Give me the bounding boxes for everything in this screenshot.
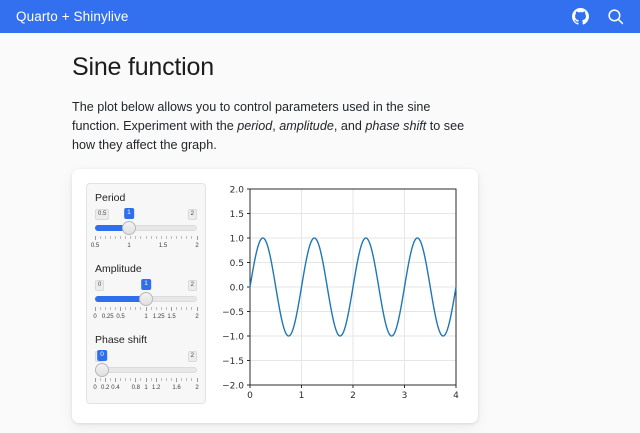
slider-tick	[191, 307, 192, 310]
slider-tick	[125, 307, 126, 310]
slider-tick	[161, 307, 162, 310]
slider-tick-label: 2	[195, 384, 198, 392]
y-axis-tick-label: −0.5	[222, 308, 244, 318]
slider-tick	[171, 236, 172, 239]
slider-tick	[95, 378, 96, 382]
y-axis-tick-label: 2.0	[230, 185, 245, 195]
slider-tick	[146, 307, 147, 311]
slider-value-badge-period: 1	[124, 208, 134, 219]
slider-tick	[140, 307, 141, 310]
slider-track-phase-shift[interactable]	[95, 363, 197, 377]
slider-label-phase-shift: Phase shift	[95, 334, 197, 346]
slider-label-amplitude: Amplitude	[95, 263, 197, 275]
x-axis-tick-label: 0	[247, 391, 253, 401]
slider-tick-label: 1	[144, 313, 147, 321]
y-axis-tick-label: −1.5	[222, 357, 244, 367]
slider-tick-label: 0	[93, 384, 96, 392]
slider-tick	[125, 236, 126, 239]
slider-tick-label: 1.25	[153, 313, 165, 321]
slider-track-bg-phase-shift[interactable]	[95, 367, 197, 373]
slider-tick	[186, 236, 187, 239]
slider-tick	[120, 307, 121, 311]
slider-label-period: Period	[95, 192, 197, 204]
emphasis-amplitude: amplitude	[279, 119, 334, 133]
slider-tick-label: 1	[144, 384, 147, 392]
slider-tick	[140, 378, 141, 381]
slider-tick	[135, 378, 136, 382]
slider-tick	[115, 236, 116, 239]
slider-tick-label: 1.5	[159, 242, 167, 250]
y-axis-tick-label: 1.0	[230, 234, 245, 244]
slider-tick	[191, 378, 192, 381]
github-icon[interactable]	[572, 8, 589, 25]
slider-tick	[176, 236, 177, 239]
slider-handle-period[interactable]	[122, 221, 136, 235]
slider-tick	[115, 378, 116, 382]
emphasis-phase-shift: phase shift	[365, 119, 426, 133]
emphasis-period: period	[237, 119, 272, 133]
slider-tick	[105, 236, 106, 239]
slider-group-phase-shift: Phase shift00200.20.40.811.21.62	[95, 334, 197, 393]
slider-tick	[166, 236, 167, 239]
slider-group-period: Period0.5120.511.52	[95, 192, 197, 251]
slider-group-amplitude: Amplitude01200.250.511.251.52	[95, 263, 197, 322]
slider-tick	[120, 236, 121, 239]
slider-max-label-amplitude: 2	[188, 280, 197, 291]
sine-plot-svg: −2.0−1.5−1.0−0.50.00.51.01.52.001234	[214, 181, 462, 409]
slider-max-label-period: 2	[188, 209, 197, 220]
description-sep-2: , and	[334, 119, 366, 133]
search-icon[interactable]	[607, 8, 624, 25]
slider-tick	[151, 307, 152, 310]
slider-tick	[197, 378, 198, 382]
slider-tick	[151, 378, 152, 381]
y-axis-tick-label: 1.5	[230, 210, 244, 220]
slider-tick	[110, 378, 111, 381]
y-axis-tick-label: −1.0	[222, 332, 244, 342]
slider-handle-phase-shift[interactable]	[95, 363, 109, 377]
slider-tick-label: 2	[195, 313, 198, 321]
slider-tick	[130, 236, 131, 239]
slider-tick-labels-amplitude: 00.250.511.251.52	[95, 313, 197, 322]
slider-tick	[176, 378, 177, 382]
slider-value-badge-phase-shift: 0	[97, 350, 107, 361]
slider-sidebar: Period0.5120.511.52Amplitude01200.250.51…	[86, 183, 206, 404]
page-title: Sine function	[72, 53, 542, 82]
page-description: The plot below allows you to control par…	[72, 98, 476, 155]
slider-min-label-amplitude: 0	[95, 280, 104, 291]
slider-tick	[151, 236, 152, 239]
slider-tick	[100, 378, 101, 381]
slider-tick	[130, 307, 131, 310]
slider-tick	[110, 307, 111, 310]
slider-tick	[171, 378, 172, 381]
x-axis-tick-label: 1	[299, 391, 305, 401]
slider-tick	[125, 378, 126, 381]
slider-tick	[115, 307, 116, 310]
slider-tick	[156, 236, 157, 239]
page-body: Sine function The plot below allows you …	[0, 33, 640, 423]
shiny-app-card: Period0.5120.511.52Amplitude01200.250.51…	[72, 169, 478, 423]
slider-tick	[156, 307, 157, 310]
slider-tick-label: 0.4	[111, 384, 119, 392]
slider-tick	[135, 307, 136, 310]
slider-min-label-period: 0.5	[95, 209, 109, 220]
y-axis-tick-label: 0.0	[230, 283, 245, 293]
x-axis-tick-label: 3	[402, 391, 408, 401]
navbar-actions	[572, 8, 624, 25]
sine-plot: −2.0−1.5−1.0−0.50.00.51.01.52.001234	[214, 181, 472, 409]
slider-handle-amplitude[interactable]	[139, 292, 153, 306]
slider-value-badge-amplitude: 1	[141, 279, 151, 290]
slider-max-label-phase-shift: 2	[188, 351, 197, 362]
slider-tick	[140, 236, 141, 239]
slider-tick	[95, 236, 96, 240]
slider-tick	[100, 307, 101, 310]
slider-ticks-amplitude	[95, 307, 197, 312]
slider-tick	[176, 307, 177, 310]
slider-tick-label: 0	[93, 313, 96, 321]
slider-tick-label: 0.8	[132, 384, 140, 392]
y-axis-tick-label: −2.0	[222, 381, 244, 391]
top-navbar: Quarto + Shinylive	[0, 0, 640, 33]
slider-tick-label: 1.6	[172, 384, 180, 392]
slider-tick	[156, 378, 157, 382]
slider-tick	[186, 378, 187, 381]
slider-ticks-phase-shift	[95, 378, 197, 383]
slider-tick-label: 0.2	[101, 384, 109, 392]
slider-tick	[100, 236, 101, 239]
slider-tick	[120, 378, 121, 381]
slider-tick	[161, 378, 162, 381]
x-axis-tick-label: 4	[453, 391, 459, 401]
slider-tick-labels-period: 0.511.52	[95, 242, 197, 251]
slider-tick	[181, 236, 182, 239]
slider-ticks-period	[95, 236, 197, 241]
slider-tick	[161, 236, 162, 239]
slider-track-amplitude[interactable]	[95, 292, 197, 306]
slider-tick	[191, 236, 192, 239]
slider-tick	[105, 307, 106, 310]
slider-tick-labels-phase-shift: 00.20.40.811.21.62	[95, 384, 197, 393]
slider-tick-label: 2	[195, 242, 198, 250]
slider-tick	[197, 236, 198, 240]
slider-tick	[186, 307, 187, 310]
slider-tick	[166, 378, 167, 381]
slider-tick	[110, 236, 111, 239]
slider-tick-label: 0.5	[91, 242, 99, 250]
slider-tick	[181, 378, 182, 381]
slider-tick-label: 1.5	[167, 313, 175, 321]
x-axis-tick-label: 2	[350, 391, 356, 401]
y-axis-tick-label: 0.5	[230, 259, 244, 269]
slider-tick	[146, 236, 147, 239]
slider-tick-label: 0.25	[102, 313, 114, 321]
slider-tick-label: 1	[127, 242, 130, 250]
slider-tick	[171, 307, 172, 311]
page-content: Sine function The plot below allows you …	[72, 53, 542, 155]
slider-tick	[95, 307, 96, 311]
navbar-title: Quarto + Shinylive	[16, 9, 128, 24]
slider-tick	[197, 307, 198, 311]
slider-tick	[181, 307, 182, 310]
slider-tick-label: 0.5	[116, 313, 124, 321]
slider-tick	[146, 378, 147, 382]
slider-tick-label: 1.2	[152, 384, 160, 392]
slider-tick	[135, 236, 136, 239]
slider-track-period[interactable]	[95, 221, 197, 235]
slider-tick	[130, 378, 131, 381]
slider-tick	[105, 378, 106, 382]
slider-tick	[166, 307, 167, 310]
